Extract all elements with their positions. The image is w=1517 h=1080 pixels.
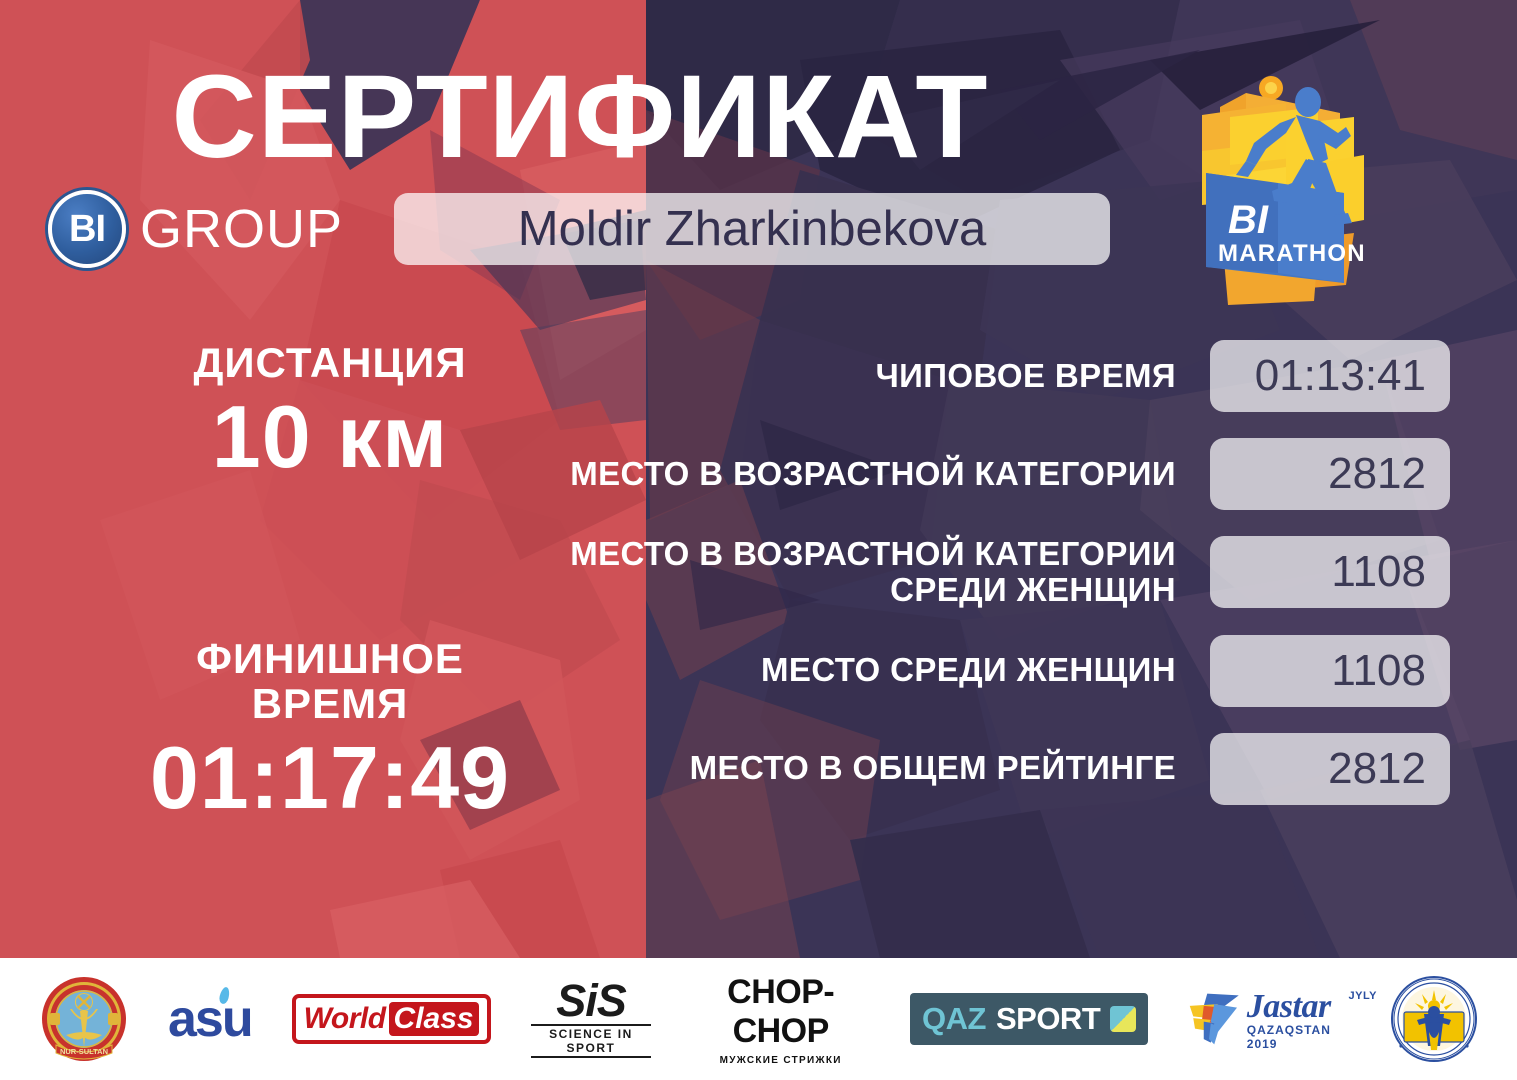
sponsor-qazsport: QAZ SPORT	[910, 993, 1148, 1045]
stat-label: ЧИПОВОЕ ВРЕМЯ	[560, 358, 1210, 394]
stat-value: 1108	[1210, 635, 1450, 707]
chop-sub-text: МУЖСКИЕ СТРИЖКИ	[691, 1055, 870, 1066]
sis-logo: SiS SCIENCE IN SPORT	[531, 980, 652, 1057]
sport-text: SPORT	[996, 1001, 1100, 1037]
nur-sultan-emblem-icon: NUR-SULTAN	[40, 975, 128, 1063]
bi-group-text: GROUP	[140, 198, 343, 260]
distance-block: ДИСТАНЦИЯ 10 км	[70, 340, 590, 484]
bi-marathon-logo: BI MARATHON	[1168, 55, 1393, 320]
marathon-bi-text: BI	[1228, 198, 1269, 242]
sis-sub-text: SCIENCE IN SPORT	[531, 1024, 652, 1058]
stat-row: МЕСТО В ВОЗРАСТНОЙ КАТЕГОРИИ СРЕДИ ЖЕНЩИ…	[560, 536, 1450, 609]
finish-time-block: ФИНИШНОЕ ВРЕМЯ 01:17:49	[70, 636, 590, 825]
ministry-emblem-icon	[1391, 976, 1477, 1062]
stat-value: 2812	[1210, 733, 1450, 805]
asu-logo-text: asu	[168, 989, 252, 1049]
stat-row: МЕСТО В ОБЩЕМ РЕЙТИНГЕ 2812	[560, 733, 1450, 805]
sponsor-asu: asu	[168, 989, 252, 1049]
right-stats-column: ЧИПОВОЕ ВРЕМЯ 01:13:41 МЕСТО В ВОЗРАСТНО…	[560, 340, 1450, 831]
qaz-text: QAZ	[922, 1001, 986, 1037]
jastar-text-block: Jastar QAZAQSTAN 2019 JYLY	[1247, 988, 1351, 1051]
sponsor-nur-sultan: NUR-SULTAN	[40, 975, 128, 1063]
finish-time-label-line2: ВРЕМЯ	[70, 681, 590, 726]
finish-time-value: 01:17:49	[70, 732, 590, 824]
jastar-jyly-text: JYLY	[1348, 990, 1377, 1002]
sponsor-bar: NUR-SULTAN asu World Class SiS SCIENCE I…	[0, 958, 1517, 1080]
jastar-arrow-icon	[1188, 988, 1241, 1050]
world-class-logo: World Class	[292, 994, 491, 1044]
stat-label: МЕСТО В ВОЗРАСТНОЙ КАТЕГОРИИ СРЕДИ ЖЕНЩИ…	[560, 536, 1210, 609]
stat-row: ЧИПОВОЕ ВРЕМЯ 01:13:41	[560, 340, 1450, 412]
qazsport-square-icon	[1110, 1006, 1136, 1032]
sponsor-chop-chop: CHOP-CHOP МУЖСКИЕ СТРИЖКИ	[691, 973, 870, 1066]
bi-group-logo: BI GROUP	[48, 190, 343, 268]
distance-label: ДИСТАНЦИЯ	[70, 340, 590, 385]
jastar-sub-text: QAZAQSTAN 2019	[1247, 1023, 1351, 1051]
sponsor-ministry	[1391, 976, 1477, 1062]
left-stats-column: ДИСТАНЦИЯ 10 км ФИНИШНОЕ ВРЕМЯ 01:17:49	[70, 340, 590, 825]
participant-name-pill: Moldir Zharkinbekova	[394, 193, 1110, 265]
stat-label: МЕСТО В ВОЗРАСТНОЙ КАТЕГОРИИ	[560, 456, 1210, 492]
page-title: СЕРТИФИКАТ	[0, 58, 1160, 176]
sis-main-text: SiS	[531, 980, 652, 1021]
participant-name: Moldir Zharkinbekova	[518, 201, 986, 257]
stat-label: МЕСТО В ОБЩЕМ РЕЙТИНГЕ	[560, 750, 1210, 786]
finish-time-label-line1: ФИНИШНОЕ	[70, 636, 590, 681]
chop-main-text: CHOP-CHOP	[691, 973, 870, 1051]
bi-badge-icon: BI	[48, 190, 126, 268]
sponsor-jastar: Jastar QAZAQSTAN 2019 JYLY	[1188, 988, 1351, 1051]
jastar-logo: Jastar QAZAQSTAN 2019 JYLY	[1188, 988, 1351, 1051]
stat-row: МЕСТО СРЕДИ ЖЕНЩИН 1108	[560, 635, 1450, 707]
qazsport-logo: QAZ SPORT	[910, 993, 1148, 1045]
stat-label: МЕСТО СРЕДИ ЖЕНЩИН	[560, 652, 1210, 688]
sponsor-sis: SiS SCIENCE IN SPORT	[531, 980, 652, 1057]
stat-value: 01:13:41	[1210, 340, 1450, 412]
world-class-word1: World	[304, 1002, 386, 1036]
asu-label: asu	[168, 990, 252, 1048]
world-class-word2: Class	[389, 1002, 479, 1036]
sponsor-world-class: World Class	[292, 994, 491, 1044]
jastar-main-text: Jastar	[1247, 988, 1351, 1026]
chop-chop-logo: CHOP-CHOP МУЖСКИЕ СТРИЖКИ	[691, 973, 870, 1066]
certificate-canvas: СЕРТИФИКАТ Moldir Zharkinbekova BI GROUP	[0, 0, 1517, 1080]
stat-value: 1108	[1210, 536, 1450, 608]
nur-sultan-text: NUR-SULTAN	[60, 1047, 108, 1056]
stat-row: МЕСТО В ВОЗРАСТНОЙ КАТЕГОРИИ 2812	[560, 438, 1450, 510]
marathon-word-text: MARATHON	[1218, 240, 1366, 267]
distance-value: 10 км	[70, 391, 590, 483]
stat-value: 2812	[1210, 438, 1450, 510]
